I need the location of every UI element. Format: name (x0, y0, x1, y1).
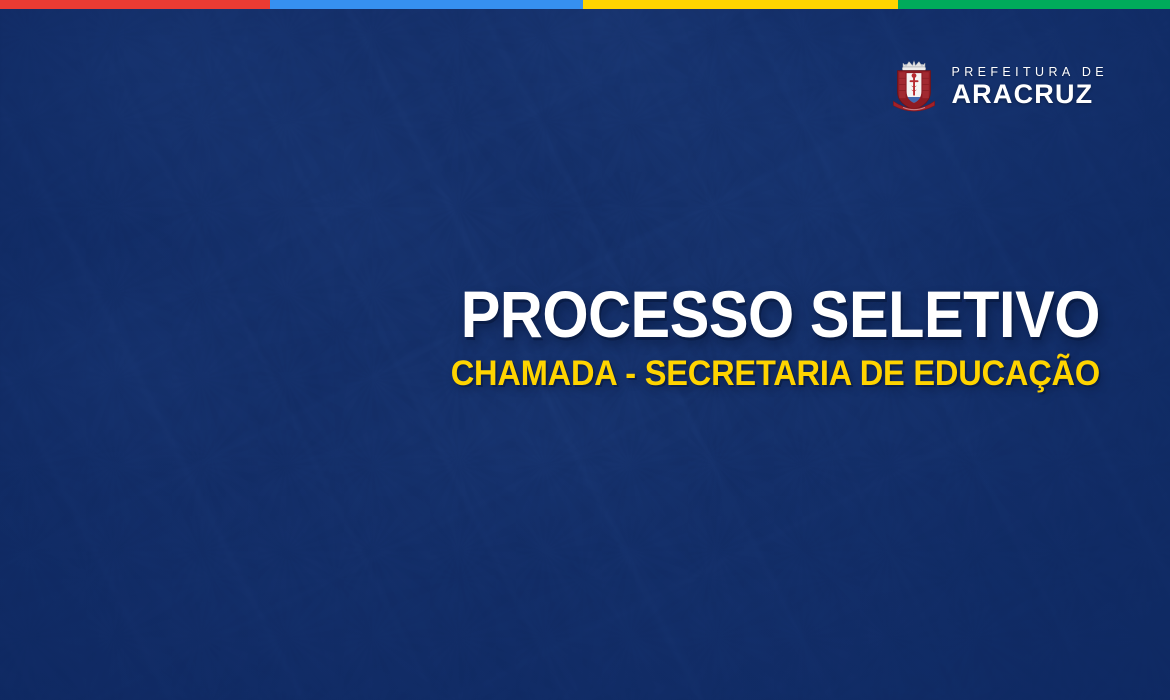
headline-block: PROCESSO SELETIVO CHAMADA - SECRETARIA D… (340, 283, 1100, 392)
aracruz-coat-of-arms-icon (890, 58, 938, 116)
logo-wordmark: PREFEITURA DE ARACRUZ (951, 66, 1108, 109)
stripe-segment-yellow (583, 0, 898, 9)
announcement-banner: PREFEITURA DE ARACRUZ PROCESSO SELETIVO … (0, 0, 1170, 700)
stripe-segment-blue (270, 0, 583, 9)
stripe-segment-green (898, 0, 1170, 9)
logo-aracruz-label: ARACRUZ (951, 81, 1093, 108)
prefeitura-logo-lockup: PREFEITURA DE ARACRUZ (890, 58, 1108, 116)
headline-title: PROCESSO SELETIVO (416, 283, 1100, 345)
stripe-segment-red (0, 0, 270, 9)
logo-prefeitura-label: PREFEITURA DE (951, 66, 1108, 79)
headline-subtitle: CHAMADA - SECRETARIA DE EDUCAÇÃO (393, 356, 1100, 392)
brand-color-stripe (0, 0, 1170, 9)
